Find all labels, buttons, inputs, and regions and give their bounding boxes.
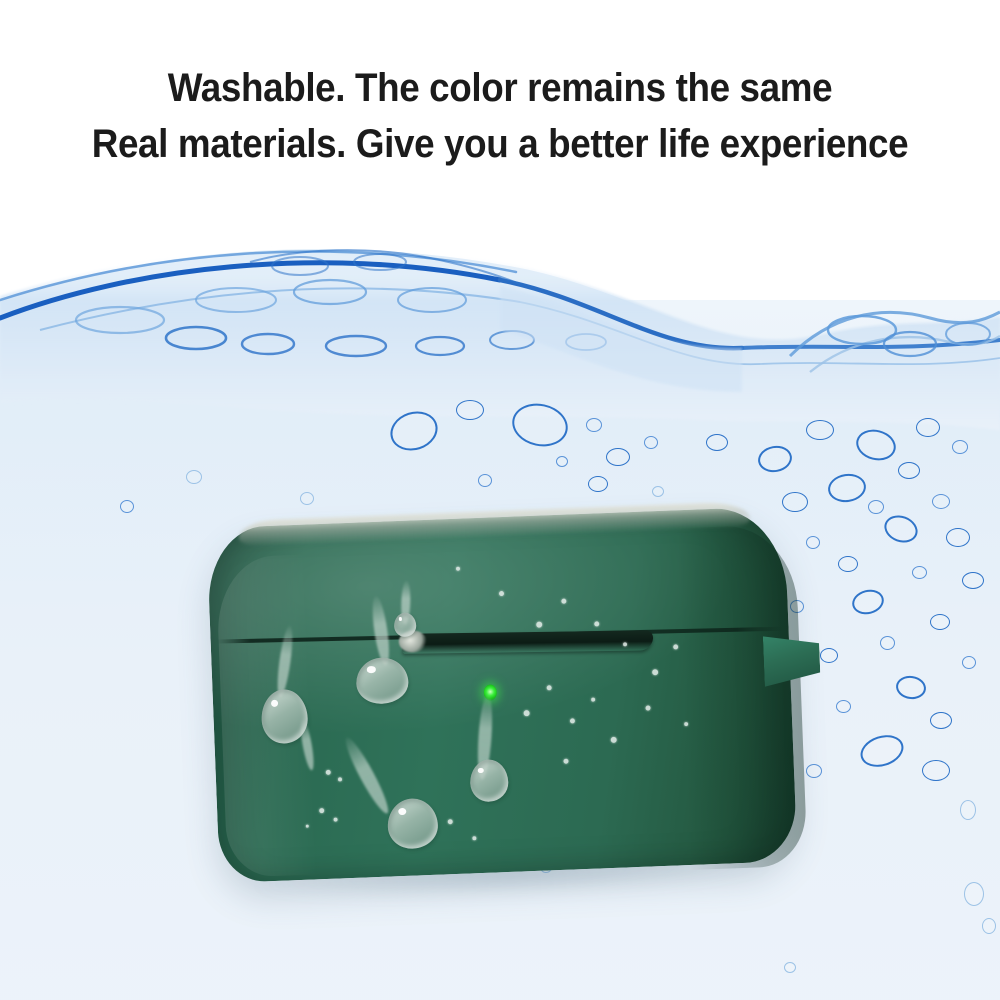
bubble	[964, 882, 984, 906]
bubble	[868, 500, 884, 514]
bubble	[880, 636, 895, 650]
bubble	[962, 656, 976, 669]
bubble	[586, 418, 602, 432]
bubble	[784, 962, 796, 973]
bubble	[588, 476, 608, 492]
bubble	[556, 456, 568, 467]
bubble	[836, 700, 851, 713]
bubble	[930, 712, 952, 729]
bubble	[912, 566, 927, 579]
bubble	[706, 434, 728, 451]
bubble	[960, 800, 976, 820]
bubble	[478, 474, 492, 487]
bubble	[120, 500, 134, 513]
bubble	[922, 760, 950, 781]
bubble	[186, 470, 202, 484]
bubble	[838, 556, 858, 572]
headline-line-1: Washable. The color remains the same	[40, 60, 960, 116]
bubble	[606, 448, 630, 466]
bubble	[898, 462, 920, 479]
case-lid-gap	[402, 630, 654, 654]
bubble	[932, 494, 950, 509]
bubble	[806, 764, 822, 778]
bubble	[962, 572, 984, 589]
bubble	[946, 528, 970, 547]
bubble	[806, 536, 820, 549]
bubble	[916, 418, 940, 437]
bubble	[982, 918, 996, 934]
bubble	[820, 648, 838, 663]
water-speck	[306, 825, 309, 828]
bubble	[806, 420, 834, 440]
bubble	[930, 614, 950, 630]
bubble	[952, 440, 968, 454]
earbud-case	[198, 494, 812, 902]
bubble	[300, 492, 314, 505]
headline-line-2: Real materials. Give you a better life e…	[40, 116, 960, 172]
headline-block: Washable. The color remains the same Rea…	[0, 60, 1000, 172]
bubble	[456, 400, 484, 420]
bubble	[652, 486, 664, 497]
product-image-canvas: Washable. The color remains the same Rea…	[0, 0, 1000, 1000]
case-right-shading	[677, 524, 808, 870]
bubble	[644, 436, 658, 449]
